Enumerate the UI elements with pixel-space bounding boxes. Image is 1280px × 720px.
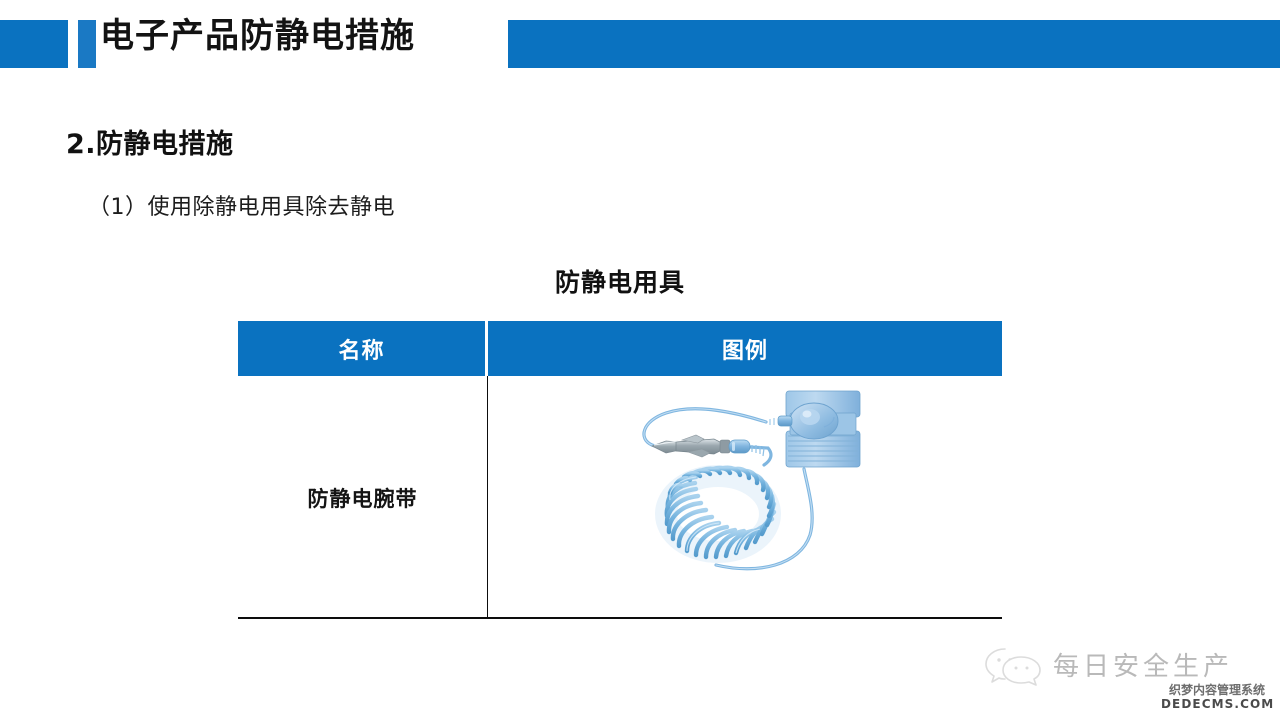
alligator-clip xyxy=(652,435,730,457)
table-bottom-border xyxy=(238,617,1002,619)
coil-group xyxy=(666,468,774,557)
section-heading: 2.防静电措施 xyxy=(66,122,234,161)
page-title: 电子产品防静电措施 xyxy=(100,16,415,56)
watermark: 每日安全生产 织梦内容管理系统 DEDECMS.COM xyxy=(975,640,1275,718)
clip-ferrule xyxy=(729,440,750,453)
header-accent-block-right xyxy=(508,20,1280,68)
section-subheading: （1）使用除静电用具除去静电 xyxy=(88,189,395,221)
anti-static-tools-table: 名称 图例 防静电腕带 xyxy=(238,321,1002,619)
slide: 电子产品防静电措施 2.防静电措施 （1）使用除静电用具除去静电 防静电用具 名… xyxy=(0,0,1280,720)
table-header-row: 名称 图例 xyxy=(238,321,1002,376)
table-header-figure: 图例 xyxy=(488,321,1002,376)
watermark-cms-cn: 织梦内容管理系统 xyxy=(1161,684,1273,697)
watermark-cms-en: DEDECMS.COM xyxy=(1161,697,1273,711)
wechat-icon xyxy=(983,646,1045,686)
table-header-name: 名称 xyxy=(238,321,485,376)
watermark-account-name: 每日安全生产 xyxy=(1053,646,1233,683)
watermark-cms: 织梦内容管理系统 DEDECMS.COM xyxy=(1161,684,1273,711)
table-cell-name: 防静电腕带 xyxy=(238,376,487,619)
wrist-cuff xyxy=(770,391,860,467)
header-accent-bar xyxy=(78,20,96,68)
table-row: 防静电腕带 xyxy=(238,376,1002,619)
table-cell-figure xyxy=(488,376,1002,619)
anti-static-wrist-strap-image xyxy=(618,369,868,579)
header-accent-block-left xyxy=(0,20,68,68)
table-title: 防静电用具 xyxy=(238,263,1002,299)
